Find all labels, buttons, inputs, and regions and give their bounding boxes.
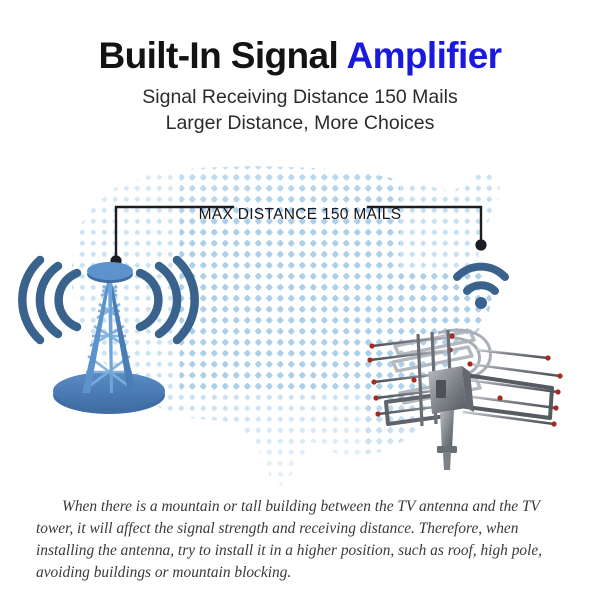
subtitle-line-2: Larger Distance, More Choices bbox=[0, 111, 600, 137]
antenna-mast bbox=[437, 410, 457, 470]
callout-endpoint-right bbox=[475, 239, 486, 250]
wifi-dot bbox=[475, 297, 487, 309]
page-title-main: Built-In Signal bbox=[99, 35, 347, 76]
subtitle-line-1: Signal Receiving Distance 150 Mails bbox=[0, 85, 600, 111]
page-title-accent: Amplifier bbox=[347, 35, 502, 76]
page-subtitle: Signal Receiving Distance 150 Mails Larg… bbox=[0, 76, 600, 137]
page-title: Built-In Signal Amplifier bbox=[0, 0, 600, 76]
united-states-halftone-map bbox=[0, 150, 600, 490]
antenna-rotor-housing bbox=[428, 366, 474, 414]
illustration-stage bbox=[0, 150, 600, 490]
outdoor-tv-antenna bbox=[367, 330, 562, 470]
promo-graphic-page: Built-In Signal Amplifier Signal Receivi… bbox=[0, 0, 600, 600]
footer-note: When there is a mountain or tall buildin… bbox=[36, 496, 564, 584]
header: Built-In Signal Amplifier Signal Receivi… bbox=[0, 0, 600, 137]
